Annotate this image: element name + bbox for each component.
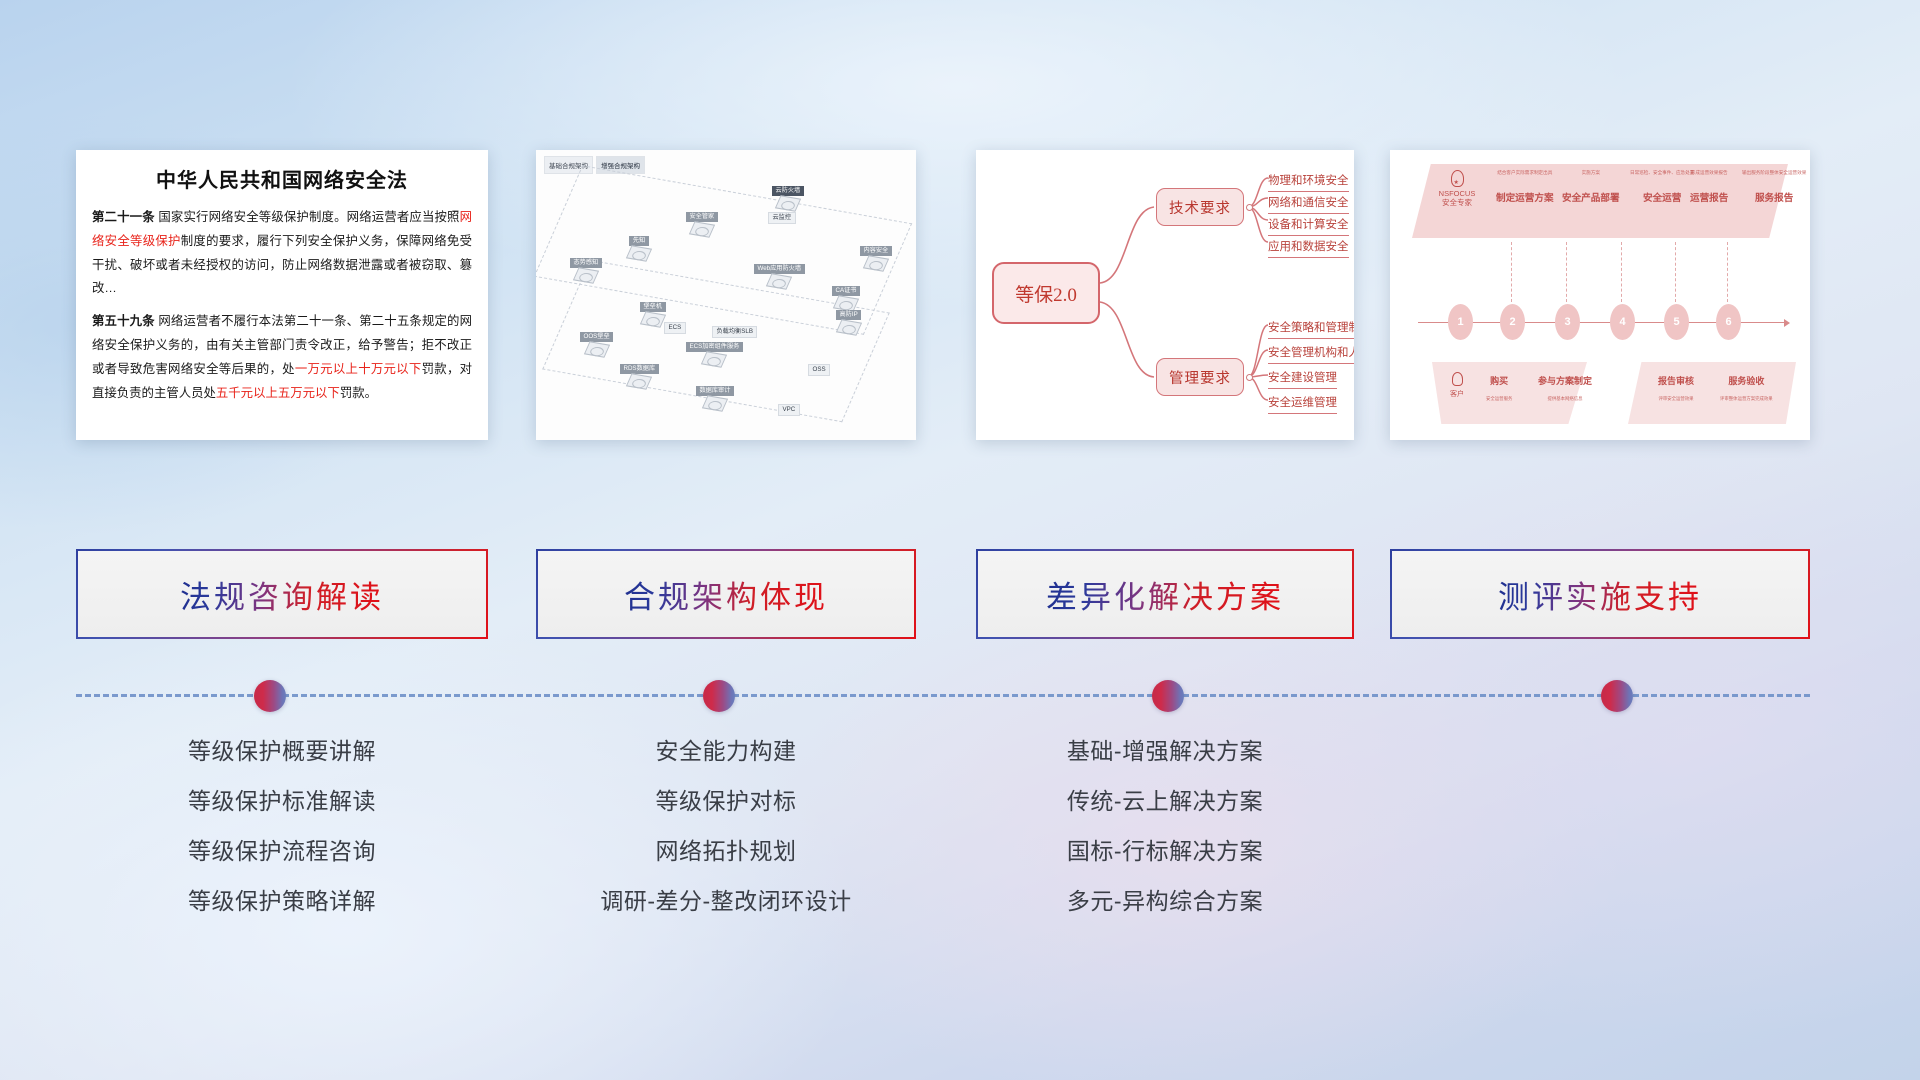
- detail-list-item: 安全能力构建: [536, 740, 916, 763]
- detail-list-item: 等级保护标准解读: [76, 790, 488, 813]
- timeline-dashed-line: [76, 694, 1810, 697]
- timeline-dot-2[interactable]: [703, 680, 735, 712]
- timeline-dot-4[interactable]: [1601, 680, 1633, 712]
- detail-list-differentiated-solutions: 基础-增强解决方案传统-云上解决方案国标-行标解决方案多元-异构综合方案: [976, 740, 1354, 940]
- timeline-dot-1[interactable]: [254, 680, 286, 712]
- detail-list-regulation-consulting: 等级保护概要讲解等级保护标准解读等级保护流程咨询等级保护策略详解: [76, 740, 488, 940]
- detail-list-item: 网络拓扑规划: [536, 840, 916, 863]
- detail-list-compliance-architecture: 安全能力构建等级保护对标网络拓扑规划调研-差分-整改闭环设计: [536, 740, 916, 940]
- detail-list-item: 基础-增强解决方案: [976, 740, 1354, 763]
- detail-list-item: 国标-行标解决方案: [976, 840, 1354, 863]
- detail-list-item: 等级保护流程咨询: [76, 840, 488, 863]
- timeline-dot-3[interactable]: [1152, 680, 1184, 712]
- detail-list-item: 多元-异构综合方案: [976, 890, 1354, 913]
- detail-list-item: 等级保护对标: [536, 790, 916, 813]
- detail-list-item: 等级保护概要讲解: [76, 740, 488, 763]
- detail-list-item: 传统-云上解决方案: [976, 790, 1354, 813]
- detail-list-item: 调研-差分-整改闭环设计: [536, 890, 916, 913]
- detail-list-item: 等级保护策略详解: [76, 890, 488, 913]
